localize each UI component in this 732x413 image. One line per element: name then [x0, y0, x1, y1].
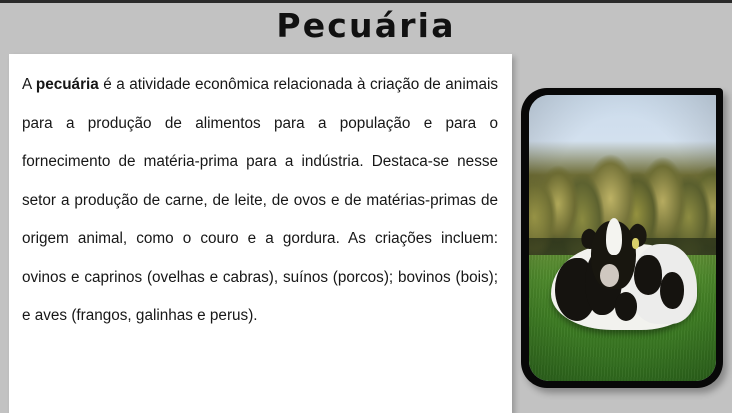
- cow-patch: [660, 272, 684, 309]
- cow-photo: [529, 95, 716, 381]
- content-text-panel: A pecuária é a atividade econômica relac…: [9, 54, 512, 413]
- body-paragraph: A pecuária é a atividade econômica relac…: [22, 66, 498, 336]
- cow-muzzle: [600, 264, 619, 287]
- page-title: Pecuária: [276, 9, 455, 42]
- body-keyword: pecuária: [36, 76, 99, 93]
- cow-photo-frame: [521, 88, 723, 388]
- cow-patch: [634, 255, 662, 295]
- slide-canvas: Pecuária A pecuária é a atividade econôm…: [0, 0, 732, 413]
- title-bar: Pecuária: [0, 3, 732, 48]
